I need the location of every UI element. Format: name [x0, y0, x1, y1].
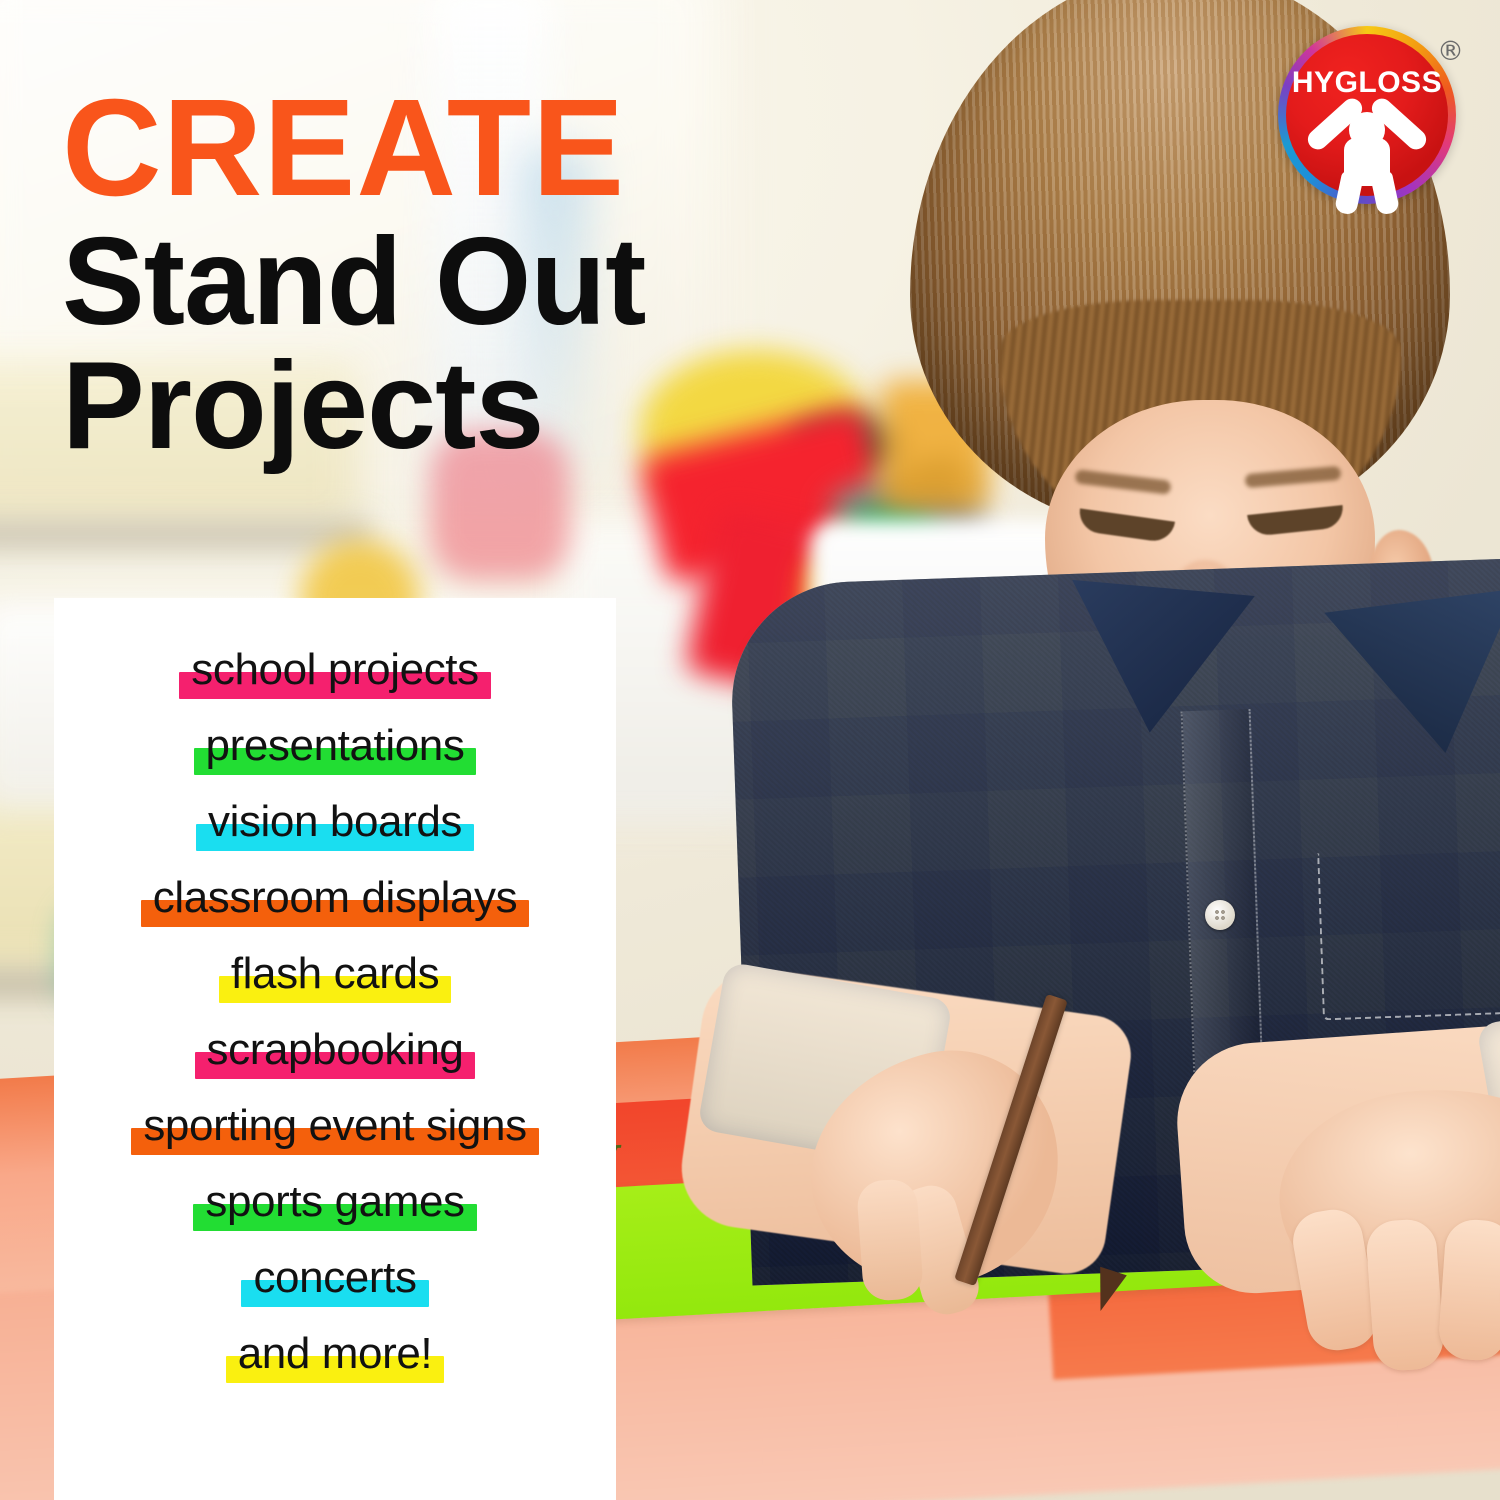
list-item: school projects [179, 648, 490, 692]
logo-wordmark: HYGLOSS [1278, 66, 1456, 100]
registered-trademark-icon: ® [1437, 36, 1464, 67]
headline-line-stand-out: Stand Out [62, 220, 922, 344]
shelf-upper-edge [0, 520, 370, 548]
headline-subtitle: Stand Out Projects [62, 220, 922, 468]
list-item-label: sports games [205, 1177, 464, 1226]
pencil-tip [1087, 1267, 1127, 1316]
shirt-button-top [1205, 900, 1235, 930]
list-item: classroom displays [141, 876, 529, 920]
list-item: vision boards [196, 800, 474, 844]
list-item: presentations [194, 724, 477, 768]
shirt-chest-pocket [1317, 847, 1500, 1021]
list-item-label: sporting event signs [143, 1101, 526, 1150]
child-finger [1437, 1218, 1500, 1362]
list-item: and more! [226, 1332, 445, 1376]
list-item: scrapbooking [195, 1028, 476, 1072]
list-item: sports games [193, 1180, 476, 1224]
headline-create: CREATE [62, 82, 922, 214]
child-finger [1365, 1218, 1445, 1373]
list-item-label: scrapbooking [207, 1025, 464, 1074]
list-item-label: vision boards [208, 797, 462, 846]
list-item-label: flash cards [231, 949, 439, 998]
hygloss-logo: HYGLOSS [1278, 26, 1456, 204]
list-item: flash cards [219, 952, 451, 996]
child-finger [856, 1178, 924, 1302]
list-item-label: presentations [206, 721, 465, 770]
headline-line-projects: Projects [62, 344, 922, 468]
headline-block: CREATE Stand Out Projects [62, 82, 922, 468]
list-item-label: school projects [191, 645, 478, 694]
list-item: concerts [241, 1256, 428, 1300]
list-item-label: and more! [238, 1329, 433, 1378]
product-lifestyle-banner: Art is my favor [0, 0, 1500, 1500]
uses-list-card: school projects presentations vision boa… [54, 598, 616, 1500]
list-item-label: classroom displays [153, 873, 517, 922]
list-item-label: concerts [253, 1253, 416, 1302]
list-item: sporting event signs [131, 1104, 538, 1148]
